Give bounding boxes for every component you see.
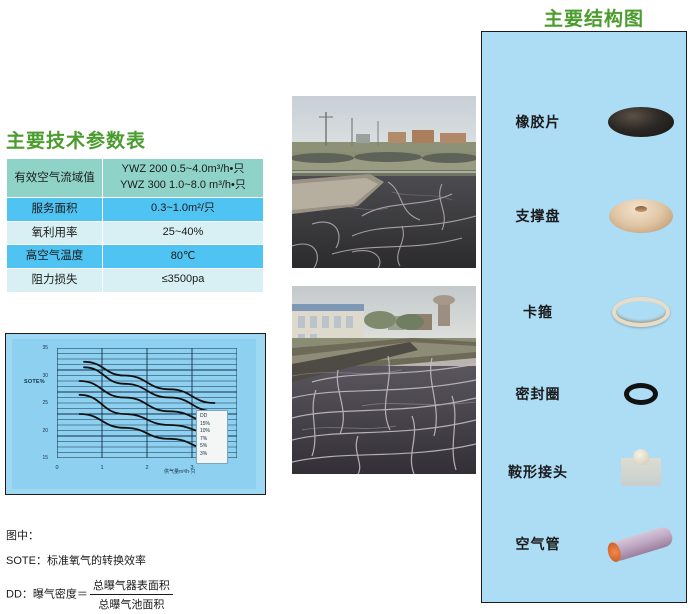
param-key: 高空气温度 xyxy=(7,245,103,269)
note-dd-prefix: DD：曝气密度＝ xyxy=(6,588,88,600)
note-dd: DD：曝气密度＝总曝气器表面积总曝气池面积 xyxy=(6,577,266,612)
chart-y-tick: 25 xyxy=(34,400,48,406)
table-row: 氧利用率 25~40% xyxy=(7,221,264,245)
structure-part-label: 密封圈 xyxy=(482,384,594,404)
param-value: YWZ 200 0.5~4.0m³/h•只 YWZ 300 1.0~8.0 m³… xyxy=(103,159,264,198)
structure-section-title: 主要结构图 xyxy=(544,4,644,31)
table-row: 高空气温度 80℃ xyxy=(7,245,264,269)
chart-legend-entry: 15% xyxy=(200,421,227,429)
param-value-line: YWZ 300 1.0~8.0 m³/h•只 xyxy=(105,178,261,194)
structure-part-row: 密封圈 xyxy=(482,362,688,426)
chart-y-tick: 35 xyxy=(34,345,48,351)
chart-y-tick: 20 xyxy=(34,428,48,434)
structure-part-row: 鞍形接头 xyxy=(482,440,688,504)
chart-legend-entry: 7% xyxy=(200,436,227,444)
param-key: 氧利用率 xyxy=(7,221,103,245)
param-value: 0.3~1.0m²/只 xyxy=(103,197,264,221)
param-table: 有效空气流域值 YWZ 200 0.5~4.0m³/h•只 YWZ 300 1.… xyxy=(6,158,264,293)
dd-numerator: 总曝气器表面积 xyxy=(90,577,173,595)
support-disc-icon xyxy=(594,184,688,248)
param-value: 25~40% xyxy=(103,221,264,245)
param-key: 服务面积 xyxy=(7,197,103,221)
structure-part-row: 空气管 xyxy=(482,512,688,576)
chart-x-tick: 2 xyxy=(145,465,148,471)
structure-part-label: 支撑盘 xyxy=(482,206,594,226)
structure-part-row: 支撑盘 xyxy=(482,184,688,248)
chart-legend: DD15%10%7%5%3% xyxy=(196,410,228,464)
structure-part-row: 卡箍 xyxy=(482,280,688,344)
param-value-line: YWZ 200 0.5~4.0m³/h•只 xyxy=(105,162,261,178)
params-section-title: 主要技术参数表 xyxy=(6,126,146,153)
structure-part-label: 空气管 xyxy=(482,534,594,554)
chart-x-axis-label: 供气量m³/h·只 xyxy=(164,468,196,475)
dd-denominator: 总曝气池面积 xyxy=(90,595,173,612)
rubber-membrane-icon xyxy=(594,90,688,154)
notes-heading: 图中： xyxy=(6,527,266,543)
photo-aeration-basin-closeup xyxy=(292,286,476,474)
table-row: 有效空气流域值 YWZ 200 0.5~4.0m³/h•只 YWZ 300 1.… xyxy=(7,159,264,198)
structure-part-label: 卡箍 xyxy=(482,302,594,322)
note-sote: SOTE：标准氧气的转换效率 xyxy=(6,552,266,568)
chart-notes: 图中： SOTE：标准氧气的转换效率 DD：曝气密度＝总曝气器表面积总曝气池面积 xyxy=(6,527,266,614)
photo-aeration-basin-overview xyxy=(292,96,476,268)
param-key: 阻力损失 xyxy=(7,268,103,292)
chart-legend-entry: 10% xyxy=(200,428,227,436)
o-ring-seal-icon xyxy=(594,362,688,426)
dd-fraction: 总曝气器表面积总曝气池面积 xyxy=(90,577,173,612)
structure-part-label: 橡胶片 xyxy=(482,112,594,132)
structure-diagram-panel: 橡胶片 支撑盘 卡箍 密封圈 鞍形接头 空气管 xyxy=(481,31,687,603)
table-row: 服务面积 0.3~1.0m²/只 xyxy=(7,197,264,221)
chart-legend-entry: 5% xyxy=(200,443,227,451)
saddle-connector-icon xyxy=(594,440,688,504)
chart-y-tick: 15 xyxy=(34,455,48,461)
chart-x-tick: 1 xyxy=(100,465,103,471)
structure-part-label: 鞍形接头 xyxy=(482,462,594,482)
table-row: 阻力损失 ≤3500pa xyxy=(7,268,264,292)
chart-y-axis-label: SOTE% xyxy=(24,379,45,385)
param-key: 有效空气流域值 xyxy=(7,159,103,198)
page-root: 主要技术参数表 有效空气流域值 YWZ 200 0.5~4.0m³/h•只 YW… xyxy=(0,0,690,614)
chart-legend-entry: 3% xyxy=(200,451,227,459)
chart-x-tick: 0 xyxy=(55,465,58,471)
param-value: ≤3500pa xyxy=(103,268,264,292)
structure-part-row: 橡胶片 xyxy=(482,90,688,154)
chart-y-tick: 30 xyxy=(34,373,48,379)
chart-legend-entry: DD xyxy=(200,413,227,421)
param-value: 80℃ xyxy=(103,245,264,269)
clamp-ring-icon xyxy=(594,280,688,344)
air-pipe-icon xyxy=(594,512,688,576)
